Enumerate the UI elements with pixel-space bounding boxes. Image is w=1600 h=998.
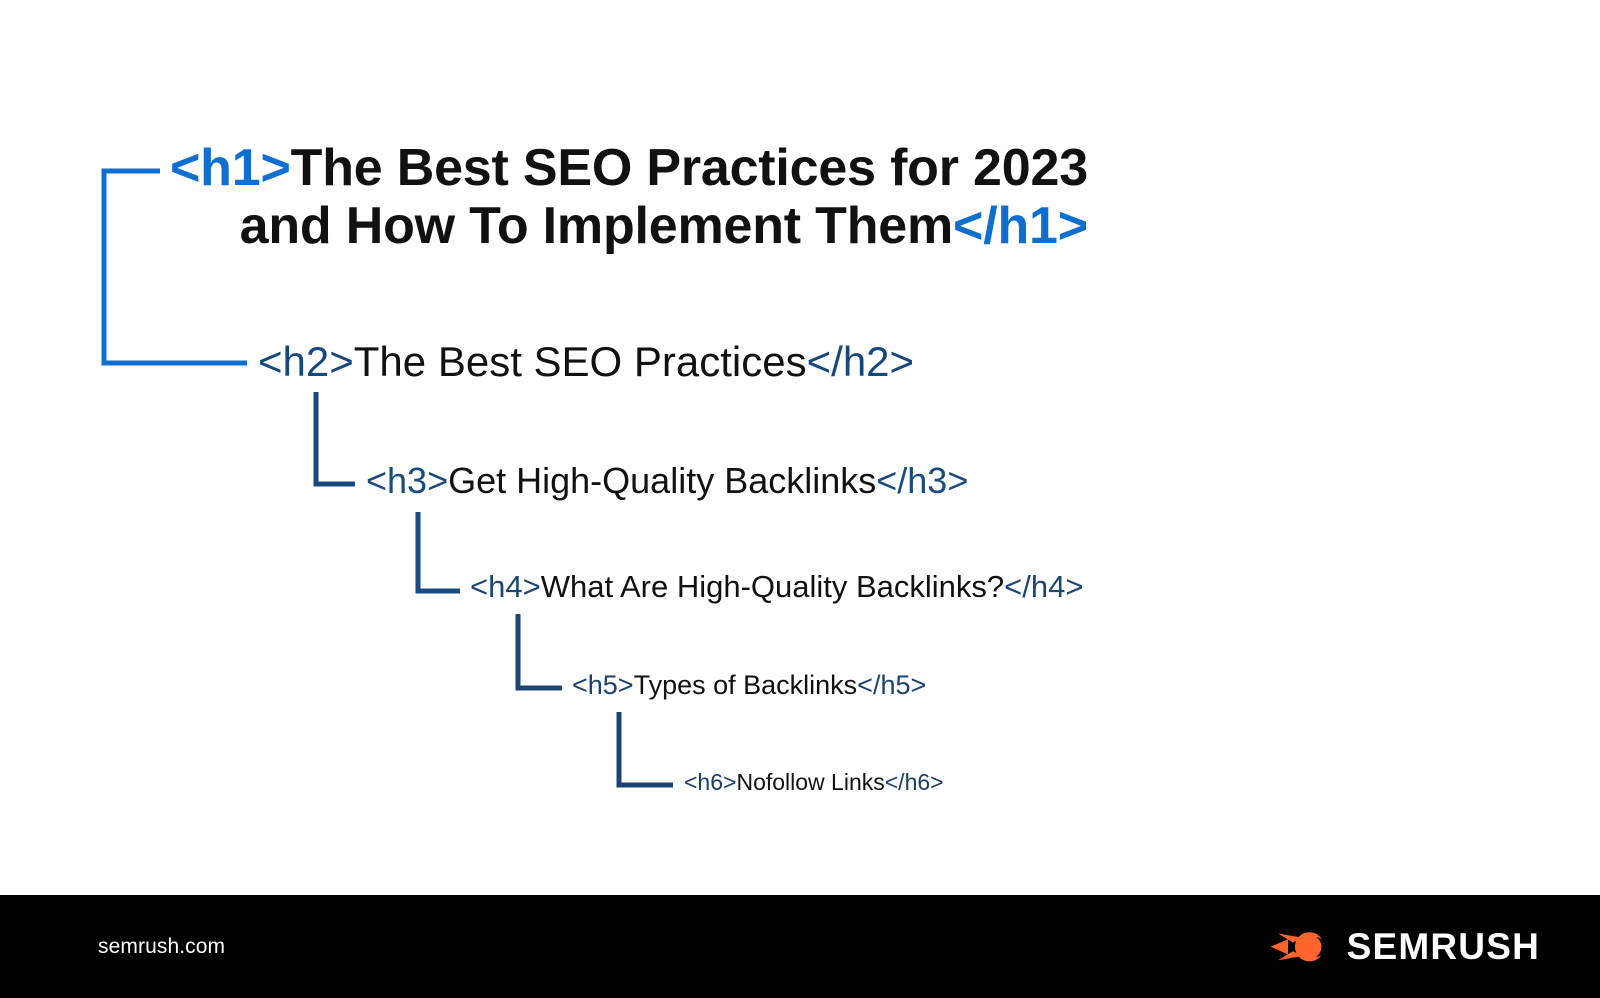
h5-open-tag: <h5> <box>572 670 634 700</box>
h2-close-tag: </h2> <box>807 338 914 385</box>
h5-text: Types of Backlinks <box>634 670 858 700</box>
h3-close-tag: </h3> <box>876 460 968 501</box>
heading-node-h4: <h4>What Are High-Quality Backlinks?</h4… <box>470 570 1083 605</box>
h1-text-line-1: The Best SEO Practices for 2023 <box>291 139 1088 197</box>
connector-h3-to-h4 <box>418 512 460 591</box>
h3-open-tag: <h3> <box>366 460 448 501</box>
h2-open-tag: <h2> <box>258 338 354 385</box>
heading-node-h1: <h1>The Best SEO Practices for 2023 and … <box>170 139 1088 255</box>
heading-node-h5: <h5>Types of Backlinks</h5> <box>572 670 926 700</box>
heading-node-h2: <h2>The Best SEO Practices</h2> <box>258 338 914 385</box>
heading-node-h3: <h3>Get High-Quality Backlinks</h3> <box>366 461 968 501</box>
h1-text-line-2: and How To Implement Them <box>240 197 953 255</box>
semrush-logo: SEMRUSH <box>1269 925 1540 969</box>
infographic-root: <h1>The Best SEO Practices for 2023 and … <box>0 0 1600 998</box>
connector-h4-to-h5 <box>518 614 562 688</box>
footer-url: semrush.com <box>98 935 225 959</box>
connector-lines <box>0 0 1600 895</box>
h3-text: Get High-Quality Backlinks <box>448 460 876 501</box>
footer-bar: semrush.com SEMRUSH <box>0 895 1600 998</box>
h4-close-tag: </h4> <box>1004 569 1083 604</box>
semrush-comet-icon <box>1269 925 1331 969</box>
h1-close-tag: </h1> <box>953 197 1088 255</box>
h4-text: What Are High-Quality Backlinks? <box>541 569 1004 604</box>
h1-open-tag: <h1> <box>170 139 291 197</box>
connector-h2-to-h3 <box>316 392 355 484</box>
h4-open-tag: <h4> <box>470 569 541 604</box>
connector-h5-to-h6 <box>619 712 673 785</box>
heading-hierarchy-diagram: <h1>The Best SEO Practices for 2023 and … <box>0 0 1600 895</box>
h6-close-tag: </h6> <box>885 769 944 795</box>
h5-close-tag: </h5> <box>857 670 926 700</box>
h6-open-tag: <h6> <box>684 769 736 795</box>
h2-text: The Best SEO Practices <box>354 338 807 385</box>
heading-node-h6: <h6>Nofollow Links</h6> <box>684 770 944 796</box>
semrush-wordmark: SEMRUSH <box>1347 926 1540 968</box>
h6-text: Nofollow Links <box>736 769 884 795</box>
